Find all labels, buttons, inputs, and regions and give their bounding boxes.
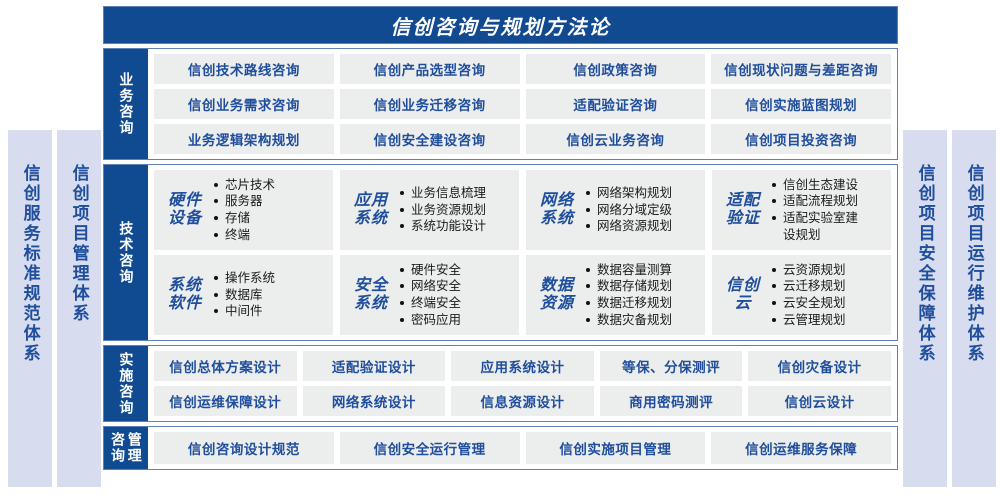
- chip-row: 信创总体方案设计 适配验证设计 应用系统设计 等保、分保测评 信创灾备设计: [154, 351, 891, 381]
- chip-item[interactable]: 信创技术路线咨询: [154, 54, 334, 84]
- tech-list-item: 业务资源规划: [400, 202, 515, 219]
- band-business-label: 业务咨询: [104, 49, 148, 159]
- tech-list-item: 信创生态建设: [772, 177, 887, 194]
- chip-item[interactable]: 商用密码测评: [600, 386, 743, 416]
- chip-row: 信创咨询设计规范 信创安全运行管理 信创实施项目管理 信创运维服务保障: [154, 432, 891, 464]
- band-management-label-text-left: 咨询: [110, 432, 125, 464]
- chip-row: 信创业务需求咨询 信创业务迁移咨询 适配验证咨询 信创实施蓝图规划: [154, 89, 891, 119]
- tech-card-cloud[interactable]: 信创云 云资源规划 云迁移规划 云安全规划 云管理规划: [712, 255, 891, 335]
- band-business-body: 信创技术路线咨询 信创产品选型咨询 信创政策咨询 信创现状问题与差距咨询 信创业…: [148, 49, 897, 159]
- pillar-left-1-label: 信创服务标准规范体系: [21, 164, 38, 364]
- tech-list-item: 中间件: [214, 303, 329, 320]
- band-implementation-label-text: 实施咨询: [119, 352, 134, 416]
- main-column: 信创咨询与规划方法论 业务咨询 信创技术路线咨询 信创产品选型咨询 信创政策咨询…: [103, 6, 898, 490]
- tech-list-item: 网络架构规划: [586, 185, 701, 202]
- tech-list-item: 适配流程规划: [772, 193, 887, 210]
- pillar-left-2-label: 信创项目管理体系: [70, 164, 87, 324]
- chip-item[interactable]: 信创咨询设计规范: [154, 432, 334, 464]
- tech-row: 系统软件 操作系统 数据库 中间件 安全系统 硬件安全 网络安全 终端安全: [154, 255, 891, 335]
- chip-item[interactable]: 信创实施项目管理: [526, 432, 706, 464]
- tech-list-item: 云安全规划: [772, 295, 887, 312]
- pillar-right-2-label: 信创项目运行维护体系: [965, 164, 982, 364]
- tech-card-category: 数据资源: [534, 277, 580, 313]
- tech-list-item: 硬件安全: [400, 262, 515, 279]
- band-implementation-consulting: 实施咨询 信创总体方案设计 适配验证设计 应用系统设计 等保、分保测评 信创灾备…: [103, 345, 898, 422]
- tech-card-list: 云资源规划 云迁移规划 云安全规划 云管理规划: [772, 262, 887, 329]
- band-business-consulting: 业务咨询 信创技术路线咨询 信创产品选型咨询 信创政策咨询 信创现状问题与差距咨…: [103, 48, 898, 160]
- tech-list-item: 网络分域定级: [586, 202, 701, 219]
- tech-card-category: 硬件设备: [162, 192, 208, 228]
- tech-card-category: 网络系统: [534, 192, 580, 228]
- tech-list-item: 云迁移规划: [772, 278, 887, 295]
- tech-card-category: 信创云: [720, 277, 766, 313]
- band-management-label-text-right: 管理: [127, 432, 142, 464]
- tech-card-security[interactable]: 安全系统 硬件安全 网络安全 终端安全 密码应用: [340, 255, 519, 335]
- tech-list-item: 云管理规划: [772, 312, 887, 329]
- tech-list-item: 系统功能设计: [400, 218, 515, 235]
- pillar-left-2: 信创项目管理体系: [57, 130, 101, 487]
- tech-card-list: 业务信息梳理 业务资源规划 系统功能设计: [400, 185, 515, 235]
- band-implementation-body: 信创总体方案设计 适配验证设计 应用系统设计 等保、分保测评 信创灾备设计 信创…: [148, 346, 897, 421]
- chip-item[interactable]: 应用系统设计: [451, 351, 594, 381]
- tech-list-item: 终端: [214, 227, 329, 244]
- pillar-right-2: 信创项目运行维护体系: [952, 130, 996, 487]
- chip-row: 信创运维保障设计 网络系统设计 信息资源设计 商用密码测评 信创云设计: [154, 386, 891, 416]
- tech-card-category: 系统软件: [162, 277, 208, 313]
- tech-list-item: 云资源规划: [772, 262, 887, 279]
- tech-card-list: 硬件安全 网络安全 终端安全 密码应用: [400, 262, 515, 329]
- tech-list-item: 操作系统: [214, 270, 329, 287]
- diagram-title-bar: 信创咨询与规划方法论: [103, 6, 898, 44]
- chip-item[interactable]: 适配验证咨询: [526, 89, 706, 119]
- tech-list-item: 数据容量测算: [586, 262, 701, 279]
- pillar-right-1: 信创项目安全保障体系: [903, 130, 947, 487]
- chip-item[interactable]: 业务逻辑架构规划: [154, 124, 334, 154]
- chip-item[interactable]: 信创运维服务保障: [711, 432, 891, 464]
- chip-item[interactable]: 适配验证设计: [303, 351, 446, 381]
- band-technical-label: 技术咨询: [104, 165, 148, 340]
- chip-item[interactable]: 信创云设计: [748, 386, 891, 416]
- band-management-body: 信创咨询设计规范 信创安全运行管理 信创实施项目管理 信创运维服务保障: [148, 427, 897, 469]
- tech-list-item: 数据迁移规划: [586, 295, 701, 312]
- tech-card-list: 信创生态建设 适配流程规划 适配实验室建 设规划: [772, 177, 887, 244]
- tech-list-item: 服务器: [214, 193, 329, 210]
- tech-list-item: 适配实验室建: [772, 210, 887, 227]
- tech-list-item: 数据库: [214, 287, 329, 304]
- band-consulting-management: 咨询 管理 信创咨询设计规范 信创安全运行管理 信创实施项目管理 信创运维服务保…: [103, 426, 898, 470]
- tech-list-item: 密码应用: [400, 312, 515, 329]
- pillar-left-1: 信创服务标准规范体系: [8, 130, 52, 487]
- tech-card-category: 安全系统: [348, 277, 394, 313]
- tech-card-category: 适配验证: [720, 192, 766, 228]
- tech-list-item: 数据存储规划: [586, 278, 701, 295]
- diagram-canvas: 信创服务标准规范体系 信创项目管理体系 信创项目安全保障体系 信创项目运行维护体…: [0, 0, 1000, 496]
- chip-item[interactable]: 信创业务迁移咨询: [340, 89, 520, 119]
- chip-item[interactable]: 信创产品选型咨询: [340, 54, 520, 84]
- pillar-right-1-label: 信创项目安全保障体系: [916, 164, 933, 364]
- tech-card-list: 网络架构规划 网络分域定级 网络资源规划: [586, 185, 701, 235]
- chip-item[interactable]: 信创业务需求咨询: [154, 89, 334, 119]
- page-title: 信创咨询与规划方法论: [391, 11, 611, 40]
- band-technical-label-text: 技术咨询: [119, 221, 134, 285]
- chip-item[interactable]: 信创灾备设计: [748, 351, 891, 381]
- tech-card-list: 操作系统 数据库 中间件: [214, 270, 329, 320]
- band-technical-body: 硬件设备 芯片技术 服务器 存储 终端 应用系统 业务信息梳理 业务资源规划: [148, 165, 897, 340]
- chip-item[interactable]: 信创运维保障设计: [154, 386, 297, 416]
- tech-list-item: 网络资源规划: [586, 218, 701, 235]
- tech-card-hardware[interactable]: 硬件设备 芯片技术 服务器 存储 终端: [154, 170, 333, 250]
- tech-card-category: 应用系统: [348, 192, 394, 228]
- tech-card-adaptation[interactable]: 适配验证 信创生态建设 适配流程规划 适配实验室建 设规划: [712, 170, 891, 250]
- tech-list-item: 数据灾备规划: [586, 312, 701, 329]
- band-implementation-label: 实施咨询: [104, 346, 148, 421]
- tech-card-list: 数据容量测算 数据存储规划 数据迁移规划 数据灾备规划: [586, 262, 701, 329]
- band-management-label: 咨询 管理: [104, 427, 148, 469]
- chip-row: 业务逻辑架构规划 信创安全建设咨询 信创云业务咨询 信创项目投资咨询: [154, 124, 891, 154]
- chip-item[interactable]: 信创总体方案设计: [154, 351, 297, 381]
- tech-card-data-resource[interactable]: 数据资源 数据容量测算 数据存储规划 数据迁移规划 数据灾备规划: [526, 255, 705, 335]
- chip-item[interactable]: 信创现状问题与差距咨询: [711, 54, 891, 84]
- tech-card-list: 芯片技术 服务器 存储 终端: [214, 177, 329, 244]
- chip-item[interactable]: 信创政策咨询: [526, 54, 706, 84]
- chip-item[interactable]: 信创实施蓝图规划: [711, 89, 891, 119]
- chip-item[interactable]: 信创项目投资咨询: [711, 124, 891, 154]
- tech-list-item: 业务信息梳理: [400, 185, 515, 202]
- chip-item[interactable]: 信创安全建设咨询: [340, 124, 520, 154]
- tech-card-network[interactable]: 网络系统 网络架构规划 网络分域定级 网络资源规划: [526, 170, 705, 250]
- tech-list-item: 网络安全: [400, 278, 515, 295]
- chip-item[interactable]: 网络系统设计: [303, 386, 446, 416]
- tech-list-item: 终端安全: [400, 295, 515, 312]
- tech-list-item-continuation: 设规划: [772, 227, 887, 244]
- tech-list-item: 芯片技术: [214, 177, 329, 194]
- band-business-label-text: 业务咨询: [119, 72, 134, 136]
- tech-row: 硬件设备 芯片技术 服务器 存储 终端 应用系统 业务信息梳理 业务资源规划: [154, 170, 891, 250]
- chip-item[interactable]: 信息资源设计: [451, 386, 594, 416]
- chip-item[interactable]: 信创安全运行管理: [340, 432, 520, 464]
- tech-card-system-software[interactable]: 系统软件 操作系统 数据库 中间件: [154, 255, 333, 335]
- tech-card-application[interactable]: 应用系统 业务信息梳理 业务资源规划 系统功能设计: [340, 170, 519, 250]
- tech-list-item: 存储: [214, 210, 329, 227]
- chip-item[interactable]: 信创云业务咨询: [526, 124, 706, 154]
- chip-item[interactable]: 等保、分保测评: [600, 351, 743, 381]
- chip-row: 信创技术路线咨询 信创产品选型咨询 信创政策咨询 信创现状问题与差距咨询: [154, 54, 891, 84]
- band-technical-consulting: 技术咨询 硬件设备 芯片技术 服务器 存储 终端 应用系统: [103, 164, 898, 341]
